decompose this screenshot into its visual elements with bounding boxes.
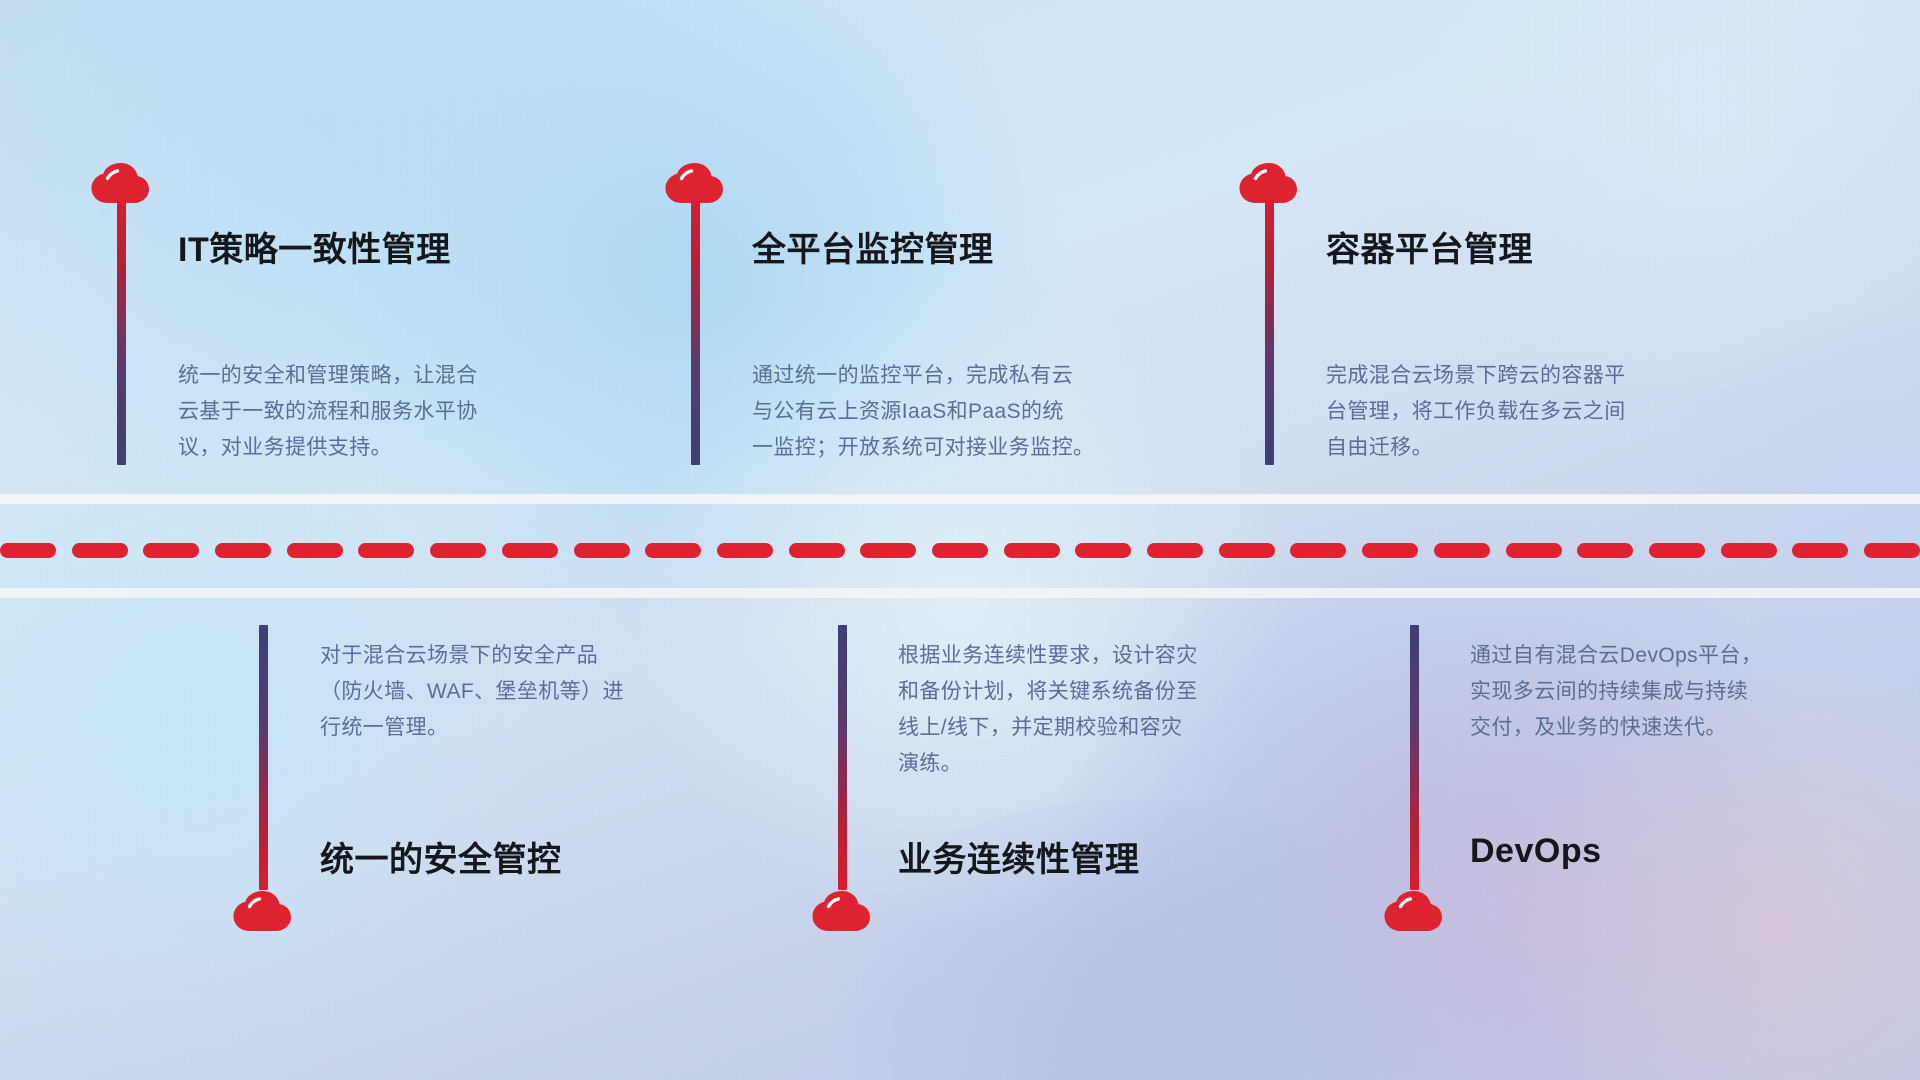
description-line: 一监控；开放系统可对接业务监控。 — [752, 430, 1094, 466]
feature-description: 通过统一的监控平台，完成私有云 与公有云上资源IaaS和PaaS的统 一监控；开… — [752, 358, 1094, 466]
feature-description: 统一的安全和管理策略，让混合 云基于一致的流程和服务水平协 议，对业务提供支持。 — [178, 358, 478, 466]
feature-description: 对于混合云场景下的安全产品 （防火墙、WAF、堡垒机等）进 行统一管理。 — [320, 638, 624, 746]
dash-segment — [0, 543, 56, 558]
connector-line — [1410, 625, 1419, 890]
feature-title: 统一的安全管控 — [320, 832, 562, 881]
dash-segment — [1649, 543, 1705, 558]
dash-segment — [1147, 543, 1203, 558]
description-line: 自由迁移。 — [1326, 430, 1626, 466]
feature-description: 根据业务连续性要求，设计容灾 和备份计划，将关键系统备份至 线上/线下，并定期校… — [898, 638, 1198, 782]
dash-segment — [1864, 543, 1920, 558]
dash-segment — [72, 543, 128, 558]
connector-line — [691, 200, 700, 465]
feature-title: IT策略一致性管理 — [178, 222, 451, 271]
description-line: 根据业务连续性要求，设计容灾 — [898, 638, 1198, 674]
cloud-icon — [232, 888, 294, 936]
description-line: 通过统一的监控平台，完成私有云 — [752, 358, 1094, 394]
dash-segment — [932, 543, 988, 558]
dash-segment — [860, 543, 916, 558]
dash-segment — [358, 543, 414, 558]
feature-title: 容器平台管理 — [1326, 222, 1533, 271]
cloud-icon — [1383, 888, 1445, 936]
description-line: 线上/线下，并定期校验和容灾 — [898, 710, 1198, 746]
description-line: （防火墙、WAF、堡垒机等）进 — [320, 674, 624, 710]
dash-segment — [574, 543, 630, 558]
description-line: 台管理，将工作负载在多云之间 — [1326, 394, 1626, 430]
description-line: 交付，及业务的快速迭代。 — [1470, 710, 1762, 746]
cloud-icon — [811, 888, 873, 936]
description-line: 演练。 — [898, 746, 1198, 782]
description-line: 完成混合云场景下跨云的容器平 — [1326, 358, 1626, 394]
connector-line — [1265, 200, 1274, 465]
description-line: 行统一管理。 — [320, 710, 624, 746]
connector-line — [117, 200, 126, 465]
dash-segment — [645, 543, 701, 558]
connector-line — [838, 625, 847, 890]
divider-band-bottom — [0, 588, 1920, 598]
dash-segment — [430, 543, 486, 558]
dashed-line — [0, 543, 1920, 558]
dash-segment — [1004, 543, 1060, 558]
divider-band-top — [0, 494, 1920, 504]
connector-line — [259, 625, 268, 890]
dash-segment — [1434, 543, 1490, 558]
feature-title: DevOps — [1470, 832, 1602, 871]
description-line: 统一的安全和管理策略，让混合 — [178, 358, 478, 394]
feature-title: 全平台监控管理 — [752, 222, 994, 271]
dash-segment — [1792, 543, 1848, 558]
dash-segment — [789, 543, 845, 558]
feature-description: 完成混合云场景下跨云的容器平 台管理，将工作负载在多云之间 自由迁移。 — [1326, 358, 1626, 466]
dash-segment — [717, 543, 773, 558]
dash-segment — [1290, 543, 1346, 558]
dash-segment — [1577, 543, 1633, 558]
dash-segment — [1506, 543, 1562, 558]
feature-description: 通过自有混合云DevOps平台， 实现多云间的持续集成与持续 交付，及业务的快速… — [1470, 638, 1762, 746]
dash-segment — [502, 543, 558, 558]
dash-segment — [215, 543, 271, 558]
dash-segment — [1075, 543, 1131, 558]
feature-title: 业务连续性管理 — [898, 832, 1140, 881]
description-line: 实现多云间的持续集成与持续 — [1470, 674, 1762, 710]
dash-segment — [1721, 543, 1777, 558]
description-line: 议，对业务提供支持。 — [178, 430, 478, 466]
description-line: 云基于一致的流程和服务水平协 — [178, 394, 478, 430]
description-line: 通过自有混合云DevOps平台， — [1470, 638, 1762, 674]
dash-segment — [1362, 543, 1418, 558]
description-line: 对于混合云场景下的安全产品 — [320, 638, 624, 674]
description-line: 与公有云上资源IaaS和PaaS的统 — [752, 394, 1094, 430]
dash-segment — [143, 543, 199, 558]
description-line: 和备份计划，将关键系统备份至 — [898, 674, 1198, 710]
dash-segment — [287, 543, 343, 558]
dash-segment — [1219, 543, 1275, 558]
